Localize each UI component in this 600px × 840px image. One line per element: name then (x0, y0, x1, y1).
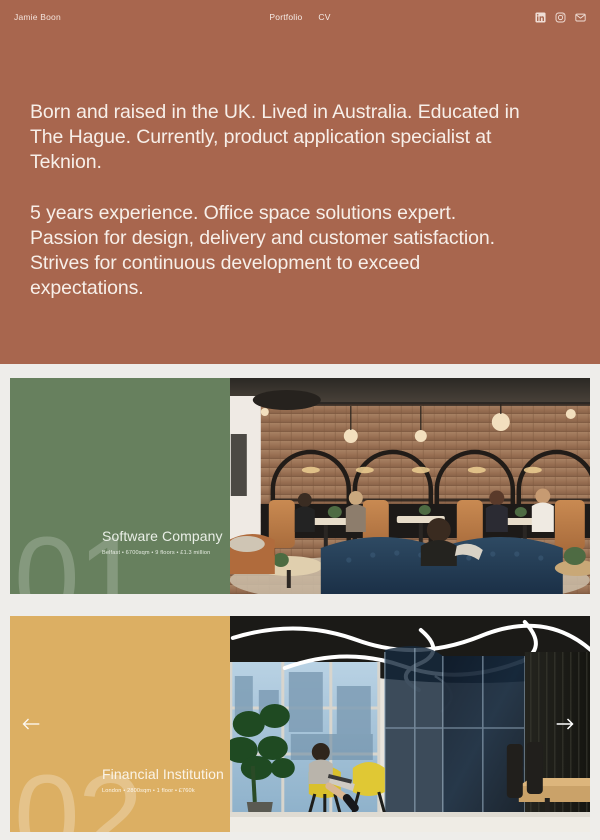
project-panel: 02 Financial Institution London • 2800sq… (10, 616, 230, 832)
site-header: Jamie Boon Portfolio CV (0, 0, 600, 34)
carousel-next-arrow-icon[interactable] (554, 713, 576, 735)
carousel-prev-arrow-icon[interactable] (20, 713, 42, 735)
project-photo (230, 616, 590, 832)
social-links (535, 12, 586, 23)
project-panel: 01 Software Company Belfast • 6700sqm • … (10, 378, 230, 594)
hero-paragraph-2: 5 years experience. Office space solutio… (30, 201, 530, 301)
project-meta: London • 2800sqm • 1 floor • £760k (102, 788, 224, 794)
linkedin-icon[interactable] (535, 12, 546, 23)
hero-paragraph-1: Born and raised in the UK. Lived in Aust… (30, 100, 530, 175)
project-info: Financial Institution London • 2800sqm •… (102, 765, 224, 794)
main-nav: Portfolio CV (269, 12, 330, 22)
project-title: Financial Institution (102, 765, 224, 783)
project-card[interactable]: 01 Software Company Belfast • 6700sqm • … (10, 378, 590, 594)
nav-item-cv[interactable]: CV (318, 12, 330, 22)
project-info: Software Company Belfast • 6700sqm • 9 f… (102, 527, 224, 556)
nav-item-portfolio[interactable]: Portfolio (269, 12, 302, 22)
projects-section: 01 Software Company Belfast • 6700sqm • … (0, 378, 600, 832)
project-card[interactable]: 02 Financial Institution London • 2800sq… (10, 616, 590, 832)
project-title: Software Company (102, 527, 224, 545)
project-meta: Belfast • 6700sqm • 9 floors • £1.3 mill… (102, 550, 224, 556)
hero-section: Born and raised in the UK. Lived in Aust… (0, 34, 600, 364)
brand-name[interactable]: Jamie Boon (14, 12, 61, 22)
instagram-icon[interactable] (555, 12, 566, 23)
project-photo (230, 378, 590, 594)
mail-icon[interactable] (575, 12, 586, 23)
